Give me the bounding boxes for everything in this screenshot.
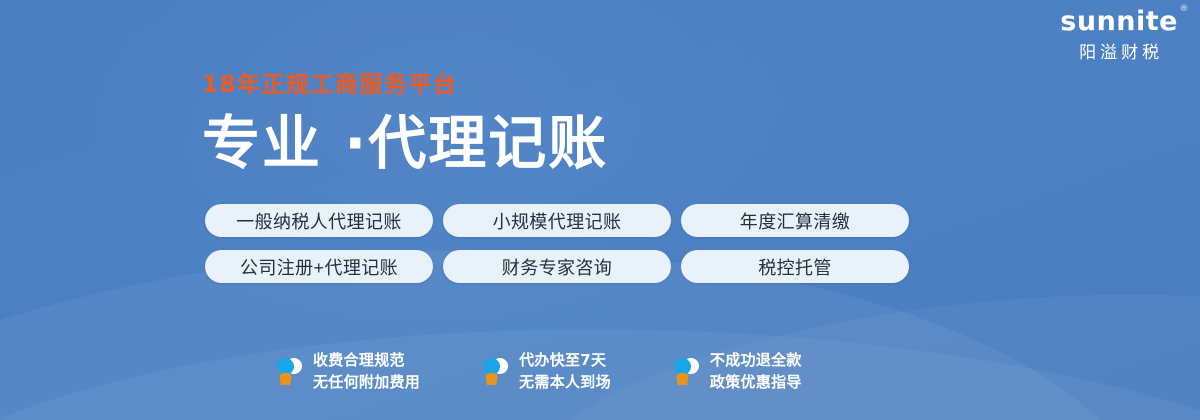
feature-text: 代办快至7天 无需本人到场 — [519, 350, 611, 394]
feature-text: 收费合理规范 无任何附加费用 — [313, 350, 420, 394]
service-pill[interactable]: 小规模代理记账 — [443, 204, 671, 237]
feature-line-1: 不成功退全款 — [710, 350, 802, 372]
person-badge-body — [676, 373, 689, 385]
person-badge-head — [277, 358, 294, 375]
feature-line-2: 无需本人到场 — [519, 372, 611, 394]
service-pill-grid: 一般纳税人代理记账 小规模代理记账 年度汇算清缴 公司注册+代理记账 财务专家咨… — [205, 204, 909, 283]
person-badge-icon — [276, 357, 304, 387]
feature-line-1: 代办快至7天 — [519, 350, 611, 372]
feature-line-1: 收费合理规范 — [313, 350, 420, 372]
feature-line-2: 政策优惠指导 — [710, 372, 802, 394]
service-pill[interactable]: 税控托管 — [681, 250, 909, 283]
registered-trademark-icon: ® — [1180, 5, 1190, 14]
feature-item: 收费合理规范 无任何附加费用 — [276, 350, 420, 394]
feature-strip: 收费合理规范 无任何附加费用 代办快至7天 无需本人到场 不成功退全款 — [276, 350, 802, 394]
service-pill[interactable]: 年度汇算清缴 — [681, 204, 909, 237]
person-badge-icon — [673, 357, 701, 387]
person-badge-head — [483, 358, 500, 375]
service-pill[interactable]: 一般纳税人代理记账 — [205, 204, 433, 237]
company-logo[interactable]: sunnite ® 阳溢财税 — [1060, 8, 1178, 61]
feature-line-2: 无任何附加费用 — [313, 372, 420, 394]
marketing-banner: sunnite ® 阳溢财税 18年正规工商服务平台 专业 ·代理记账 一般纳税… — [0, 0, 1200, 420]
service-pill[interactable]: 公司注册+代理记账 — [205, 250, 433, 283]
logo-wordmark: sunnite ® — [1060, 8, 1178, 35]
feature-item: 代办快至7天 无需本人到场 — [482, 350, 611, 394]
person-badge-body — [279, 373, 292, 385]
hero-headline: 专业 ·代理记账 — [202, 113, 608, 174]
feature-text: 不成功退全款 政策优惠指导 — [710, 350, 802, 394]
service-pill[interactable]: 财务专家咨询 — [443, 250, 671, 283]
hero-text-block: 18年正规工商服务平台 专业 ·代理记账 — [202, 74, 608, 174]
person-badge-icon — [482, 357, 510, 387]
person-badge-body — [485, 373, 498, 385]
logo-chinese-name: 阳溢财税 — [1060, 44, 1178, 61]
person-badge-head — [674, 358, 691, 375]
hero-eyebrow: 18年正规工商服务平台 — [202, 74, 608, 97]
feature-item: 不成功退全款 政策优惠指导 — [673, 350, 802, 394]
logo-wordmark-text: sunnite — [1060, 6, 1178, 37]
